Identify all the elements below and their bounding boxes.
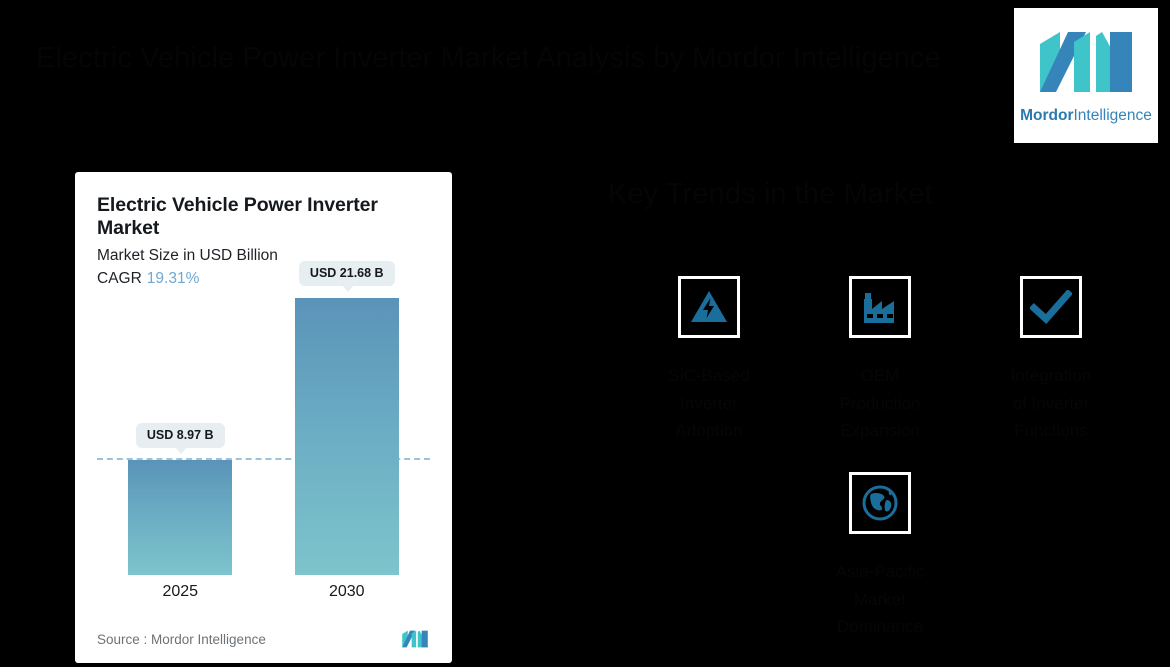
bar-value-callout: USD 8.97 B [136, 423, 225, 448]
trend-item-1: SiC-BasedInverterAdoption [616, 276, 802, 445]
bar-series: USD 8.97 B2025USD 21.68 B2030 [97, 268, 430, 575]
logo-word-mordor: Mordor [1020, 107, 1073, 124]
mordor-m-mark [1034, 26, 1138, 98]
trends-heading: Key Trends in the Market [608, 178, 933, 211]
source-label: Source : Mordor Intelligence [97, 632, 266, 647]
bar [295, 298, 399, 575]
trend-item-4: Asia-PacificMarketDominance [787, 472, 973, 641]
trend-label-3: Integrationof InverterFunctions [1011, 362, 1091, 445]
chart-footer: Source : Mordor Intelligence [97, 629, 430, 649]
high-voltage-icon [678, 276, 740, 338]
trend-label-4: Asia-PacificMarketDominance [836, 558, 925, 641]
bar-column: USD 8.97 B2025 [126, 268, 234, 575]
bar-category-label: 2030 [329, 583, 365, 601]
chart-card: Electric Vehicle Power Inverter Market M… [75, 172, 452, 663]
check-icon [1020, 276, 1082, 338]
trend-item-3: Integrationof InverterFunctions [958, 276, 1144, 445]
logo-word-intelligence: Intelligence [1073, 107, 1151, 124]
bar-column: USD 21.68 B2030 [293, 268, 401, 575]
bar [128, 460, 232, 575]
globe-icon [849, 472, 911, 534]
page-title: Electric Vehicle Power Inverter Market A… [36, 38, 976, 78]
chart-plot-area: USD 8.97 B2025USD 21.68 B2030 [97, 268, 430, 605]
trend-label-2: OEMProductionExpansion [839, 362, 920, 445]
chart-title: Electric Vehicle Power Inverter Market [97, 194, 430, 240]
mordor-intelligence-logo: MordorIntelligence [1014, 8, 1158, 143]
trend-label-1: SiC-BasedInverterAdoption [668, 362, 749, 445]
mordor-m-mark-small [400, 629, 430, 649]
factory-icon [849, 276, 911, 338]
trend-item-2: OEMProductionExpansion [787, 276, 973, 445]
bar-value-callout: USD 21.68 B [299, 261, 395, 286]
bar-category-label: 2025 [162, 583, 198, 601]
logo-wordmark: MordorIntelligence [1020, 107, 1152, 125]
